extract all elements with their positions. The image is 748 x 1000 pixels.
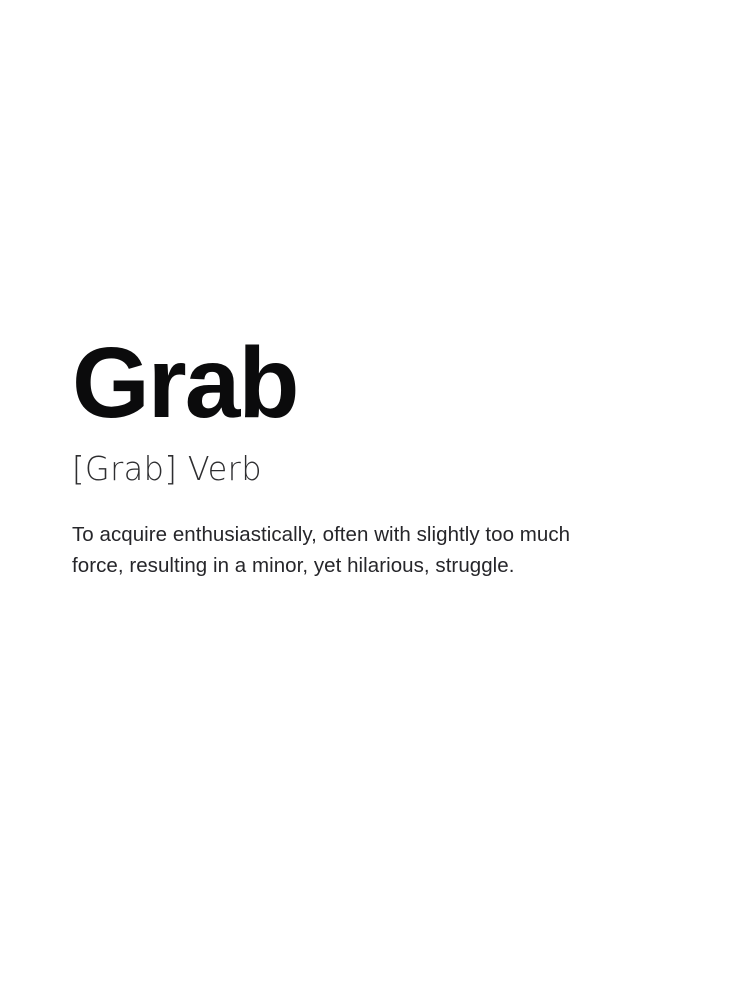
definition-text-line: To acquire enthusiastically, often with … [72, 519, 652, 550]
definition-text-line: force, resulting in a minor, yet hilario… [72, 550, 652, 581]
definition-text: To acquire enthusiastically, often with … [72, 519, 652, 581]
definition-block: Grab [Grab] Verb To acquire enthusiastic… [72, 338, 672, 581]
headword: Grab [72, 338, 672, 428]
pronunciation-and-part-of-speech: [Grab] Verb [72, 450, 654, 488]
poster-canvas: Grab [Grab] Verb To acquire enthusiastic… [0, 0, 748, 1000]
